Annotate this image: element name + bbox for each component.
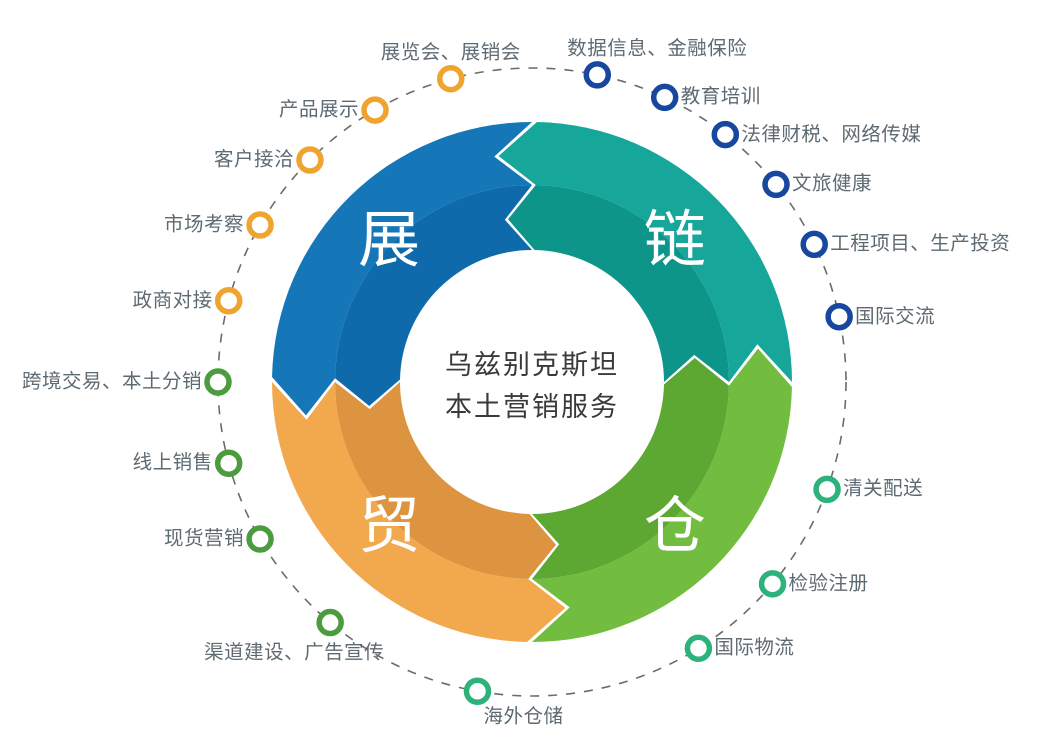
node-marker[interactable] [765, 173, 787, 195]
donut-segments [272, 122, 792, 642]
node-marker[interactable] [249, 214, 271, 236]
node-label[interactable]: 检验注册 [789, 574, 869, 594]
node-marker[interactable] [249, 528, 271, 550]
segment-char-zhan: 展 [358, 207, 420, 275]
node-marker[interactable] [687, 637, 709, 659]
node-marker[interactable] [762, 573, 784, 595]
node-marker[interactable] [207, 371, 229, 393]
node-marker[interactable] [654, 86, 676, 108]
center-line-1: 乌兹别克斯坦 [445, 350, 619, 380]
node-label[interactable]: 数据信息、金融保险 [567, 39, 747, 59]
node-label[interactable]: 政商对接 [133, 291, 213, 311]
center-line-2: 本土营销服务 [445, 392, 619, 422]
node-marker[interactable] [828, 306, 850, 328]
node-label[interactable]: 渠道建设、广告宣传 [204, 643, 384, 663]
node-marker[interactable] [803, 233, 825, 255]
node-label[interactable]: 展览会、展销会 [381, 43, 521, 63]
node-marker[interactable] [319, 612, 341, 634]
node-marker[interactable] [586, 64, 608, 86]
node-label[interactable]: 产品展示 [279, 100, 359, 120]
node-label[interactable]: 跨境交易、本土分销 [22, 372, 202, 392]
segment-characters: 展链仓贸 [358, 207, 706, 561]
node-label[interactable]: 线上销售 [133, 454, 213, 474]
node-marker[interactable] [299, 149, 321, 171]
infographic-canvas: 展链仓贸 乌兹别克斯坦 本土营销服务 展览会、展销会产品展示客户接洽市场考察政商… [0, 0, 1058, 756]
node-label[interactable]: 现货营销 [164, 529, 244, 549]
node-label[interactable]: 工程项目、生产投资 [830, 235, 1010, 255]
segment-char-cang: 仓 [644, 493, 706, 561]
node-marker[interactable] [714, 124, 736, 146]
node-marker[interactable] [440, 68, 462, 90]
node-label[interactable]: 国际交流 [855, 307, 935, 327]
node-label[interactable]: 客户接洽 [214, 150, 294, 170]
node-marker[interactable] [218, 290, 240, 312]
center-caption: 乌兹别克斯坦 本土营销服务 [445, 350, 619, 422]
node-marker[interactable] [364, 99, 386, 121]
node-marker[interactable] [218, 452, 240, 474]
segment-char-mao: 贸 [358, 493, 420, 561]
node-label[interactable]: 教育培训 [681, 88, 761, 108]
node-label[interactable]: 法律财税、网络传媒 [741, 125, 921, 145]
node-label[interactable]: 清关配送 [843, 480, 923, 500]
segment-char-lian: 链 [644, 207, 706, 275]
node-label[interactable]: 文旅健康 [792, 175, 872, 195]
node-marker[interactable] [466, 680, 488, 702]
node-label[interactable]: 国际物流 [714, 639, 794, 659]
node-marker[interactable] [816, 478, 838, 500]
node-label[interactable]: 市场考察 [164, 215, 244, 235]
node-label[interactable]: 海外仓储 [483, 707, 563, 727]
